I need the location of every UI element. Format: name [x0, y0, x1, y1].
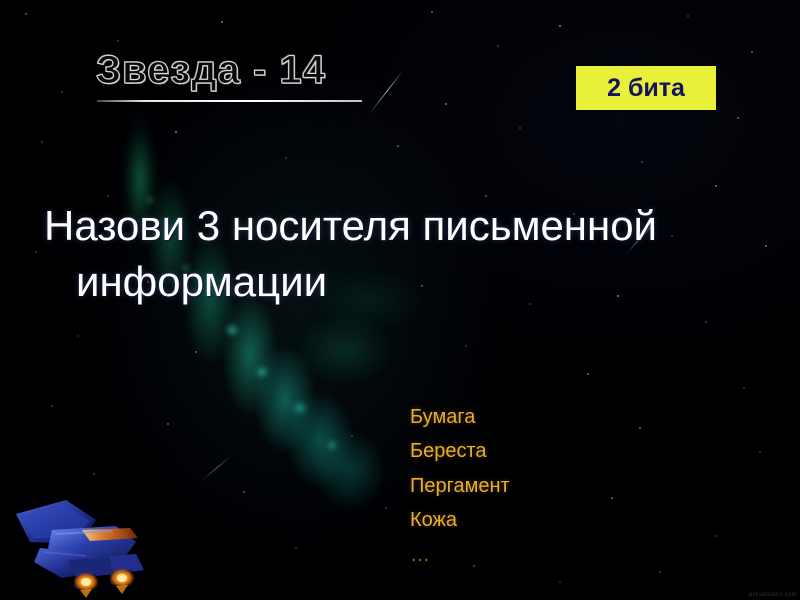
points-badge-label: 2 бита — [607, 76, 685, 101]
watermark: presentacii.com — [749, 592, 797, 598]
question-block: Назови 3 носителя письменной информации — [44, 198, 784, 310]
meteor-streak-icon — [200, 455, 231, 481]
spaceship-icon — [4, 486, 172, 598]
answer-item-ellipsis: … — [410, 538, 710, 572]
answer-list: Бумага Береста Пергамент Кожа … — [410, 400, 710, 572]
points-badge: 2 бита — [576, 66, 716, 110]
question-line-1: Назови 3 носителя письменной — [44, 198, 784, 254]
question-line-2: информации — [44, 254, 784, 310]
meteor-streak-icon — [368, 70, 403, 115]
slide-title: Звезда - 14 — [96, 50, 326, 90]
title-underline — [97, 100, 362, 102]
answer-item: Береста — [410, 434, 710, 468]
slide-canvas: Звезда - 14 2 бита Назови 3 носителя пис… — [0, 0, 800, 600]
answer-item: Кожа — [410, 503, 710, 537]
answer-item: Пергамент — [410, 469, 710, 503]
answer-item: Бумага — [410, 400, 710, 434]
